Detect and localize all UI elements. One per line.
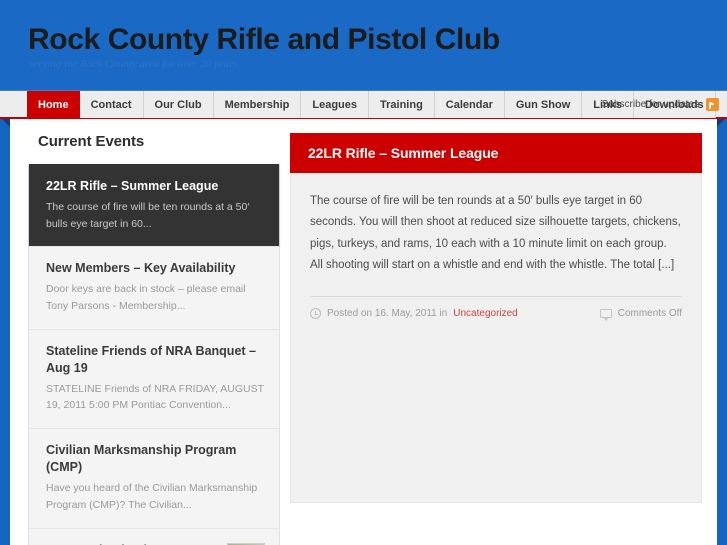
list-item-text: 22LR Rifle – Summer LeagueThe course of …	[46, 178, 265, 232]
list-item-title[interactable]: Stateline Friends of NRA Banquet – Aug 1…	[46, 343, 265, 377]
list-item[interactable]: NRA Basic Pistol Course	[29, 528, 279, 545]
list-item-text: Civilian Marksmanship Program (CMP)Have …	[46, 442, 265, 513]
list-item[interactable]: 22LR Rifle – Summer LeagueThe course of …	[29, 164, 279, 246]
list-item-title[interactable]: 22LR Rifle – Summer League	[46, 178, 265, 195]
site-title: Rock County Rifle and Pistol Club	[28, 23, 500, 56]
clock-icon	[310, 308, 321, 319]
post-comments-label: Comments Off	[618, 308, 682, 319]
site-tagline: serving the Rock County area for over 20…	[29, 58, 238, 70]
nav-item-our-club[interactable]: Our Club	[144, 91, 214, 118]
subscribe-link[interactable]: Subscribe for updates	[588, 91, 719, 118]
ribbon-fold-left-icon	[2, 119, 10, 127]
post-title[interactable]: 22LR Rifle – Summer League	[308, 145, 498, 161]
post-body: The course of fire will be ten rounds at…	[290, 173, 702, 503]
list-item-title[interactable]: Civilian Marksmanship Program (CMP)	[46, 442, 265, 476]
list-item[interactable]: Stateline Friends of NRA Banquet – Aug 1…	[29, 329, 279, 428]
sidebar: Current Events 22LR Rifle – Summer Leagu…	[28, 133, 280, 545]
content-shell: Current Events 22LR Rifle – Summer Leagu…	[10, 119, 717, 545]
post-date-label: Posted on 16. May, 2011 in	[327, 308, 447, 319]
post-category-link[interactable]: Uncategorized	[453, 308, 517, 319]
post-meta: Posted on 16. May, 2011 in Uncategorized…	[310, 296, 682, 319]
comment-bubble-icon	[600, 309, 612, 318]
list-item[interactable]: New Members – Key AvailabilityDoor keys …	[29, 246, 279, 328]
current-events-list: 22LR Rifle – Summer LeagueThe course of …	[28, 164, 280, 545]
list-item[interactable]: Civilian Marksmanship Program (CMP)Have …	[29, 428, 279, 527]
post-excerpt-text: The course of fire will be ten rounds at…	[310, 191, 682, 276]
ribbon-fold-right-icon	[717, 119, 725, 127]
subscribe-label: Subscribe for updates	[602, 99, 699, 110]
site-banner: Rock County Rifle and Pistol Club servin…	[0, 0, 727, 90]
post-comments-meta: Comments Off	[600, 308, 682, 319]
list-item-text: Stateline Friends of NRA Banquet – Aug 1…	[46, 343, 265, 414]
nav-item-calendar[interactable]: Calendar	[435, 91, 505, 118]
main-content: 22LR Rifle – Summer League The course of…	[290, 133, 702, 503]
list-item-excerpt: Door keys are back in stock – please ema…	[46, 281, 265, 315]
page-root: Rock County Rifle and Pistol Club servin…	[0, 0, 727, 545]
list-item-excerpt: Have you heard of the Civilian Marksmans…	[46, 480, 265, 514]
nav-item-home[interactable]: Home	[27, 91, 80, 118]
rss-icon[interactable]	[706, 98, 719, 111]
list-item-title[interactable]: New Members – Key Availability	[46, 260, 265, 277]
list-item-excerpt: The course of fire will be ten rounds at…	[46, 199, 265, 233]
nav-item-leagues[interactable]: Leagues	[301, 91, 369, 118]
list-item-excerpt: STATELINE Friends of NRA FRIDAY, AUGUST …	[46, 381, 265, 415]
main-navigation-bar: HomeContactOur ClubMembershipLeaguesTrai…	[0, 90, 727, 119]
nav-item-gun-show[interactable]: Gun Show	[505, 91, 582, 118]
post-date-meta: Posted on 16. May, 2011 in Uncategorized	[310, 308, 518, 319]
nav-item-contact[interactable]: Contact	[80, 91, 144, 118]
list-item-text: New Members – Key AvailabilityDoor keys …	[46, 260, 265, 314]
nav-item-membership[interactable]: Membership	[214, 91, 302, 118]
post-header: 22LR Rifle – Summer League	[290, 133, 702, 173]
nav-item-training[interactable]: Training	[369, 91, 435, 118]
sidebar-heading: Current Events	[38, 133, 280, 150]
